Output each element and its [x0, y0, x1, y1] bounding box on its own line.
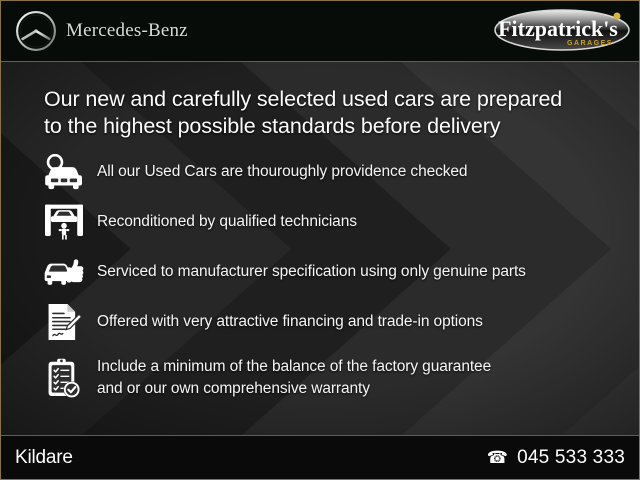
page-title: Our new and carefully selected used cars…	[44, 86, 604, 140]
dealer-advert-banner: Mercedes-Benz Fitzpatrick's GARAGES	[0, 0, 640, 480]
list-item-label-line-1: Include a minimum of the balance of the …	[97, 358, 491, 375]
list-item-label: Include a minimum of the balance of the …	[97, 356, 491, 400]
svg-text:Fitzpatrick's: Fitzpatrick's	[498, 16, 618, 41]
contact-phone[interactable]: ☎ 045 533 333	[487, 447, 625, 469]
list-item: Serviced to manufacturer specification u…	[41, 250, 626, 294]
headline-line-1: Our new and carefully selected used cars…	[44, 86, 604, 113]
list-item: Reconditioned by qualified technicians	[41, 200, 626, 244]
headline-line-2: to the highest possible standards before…	[44, 113, 604, 140]
footer-bar: Kildare ☎ 045 533 333	[1, 435, 639, 479]
document-pen-signature-icon	[41, 301, 87, 343]
list-item: Include a minimum of the balance of the …	[41, 350, 626, 406]
main-content: Our new and carefully selected used cars…	[1, 62, 639, 436]
location-label: Kildare	[15, 447, 73, 469]
telephone-icon: ☎	[487, 449, 508, 466]
car-magnifier-icon	[41, 151, 87, 193]
clipboard-checklist-icon	[41, 357, 87, 399]
car-on-lift-icon	[41, 201, 87, 243]
svg-text:GARAGES: GARAGES	[567, 40, 613, 47]
list-item-label: Serviced to manufacturer specification u…	[97, 261, 526, 283]
fitzpatricks-oval-logo[interactable]: Fitzpatrick's GARAGES	[492, 5, 632, 55]
list-item: Offered with very attractive financing a…	[41, 300, 626, 344]
list-item-label: All our Used Cars are thouroughly provid…	[97, 161, 467, 183]
mercedes-benz-brand: Mercedes-Benz	[15, 10, 188, 52]
phone-number: 045 533 333	[517, 447, 625, 469]
header-bar: Mercedes-Benz Fitzpatrick's GARAGES	[1, 1, 639, 62]
list-item-label-line-2: and or our own comprehensive warranty	[97, 378, 491, 400]
mercedes-benz-wordmark: Mercedes-Benz	[66, 20, 188, 42]
list-item-label: Offered with very attractive financing a…	[97, 311, 483, 333]
benefits-list: All our Used Cars are thouroughly provid…	[41, 150, 626, 412]
list-item: All our Used Cars are thouroughly provid…	[41, 150, 626, 194]
mercedes-star-icon	[15, 10, 57, 52]
car-thumbs-up-icon	[41, 251, 87, 293]
list-item-label: Reconditioned by qualified technicians	[97, 211, 357, 233]
